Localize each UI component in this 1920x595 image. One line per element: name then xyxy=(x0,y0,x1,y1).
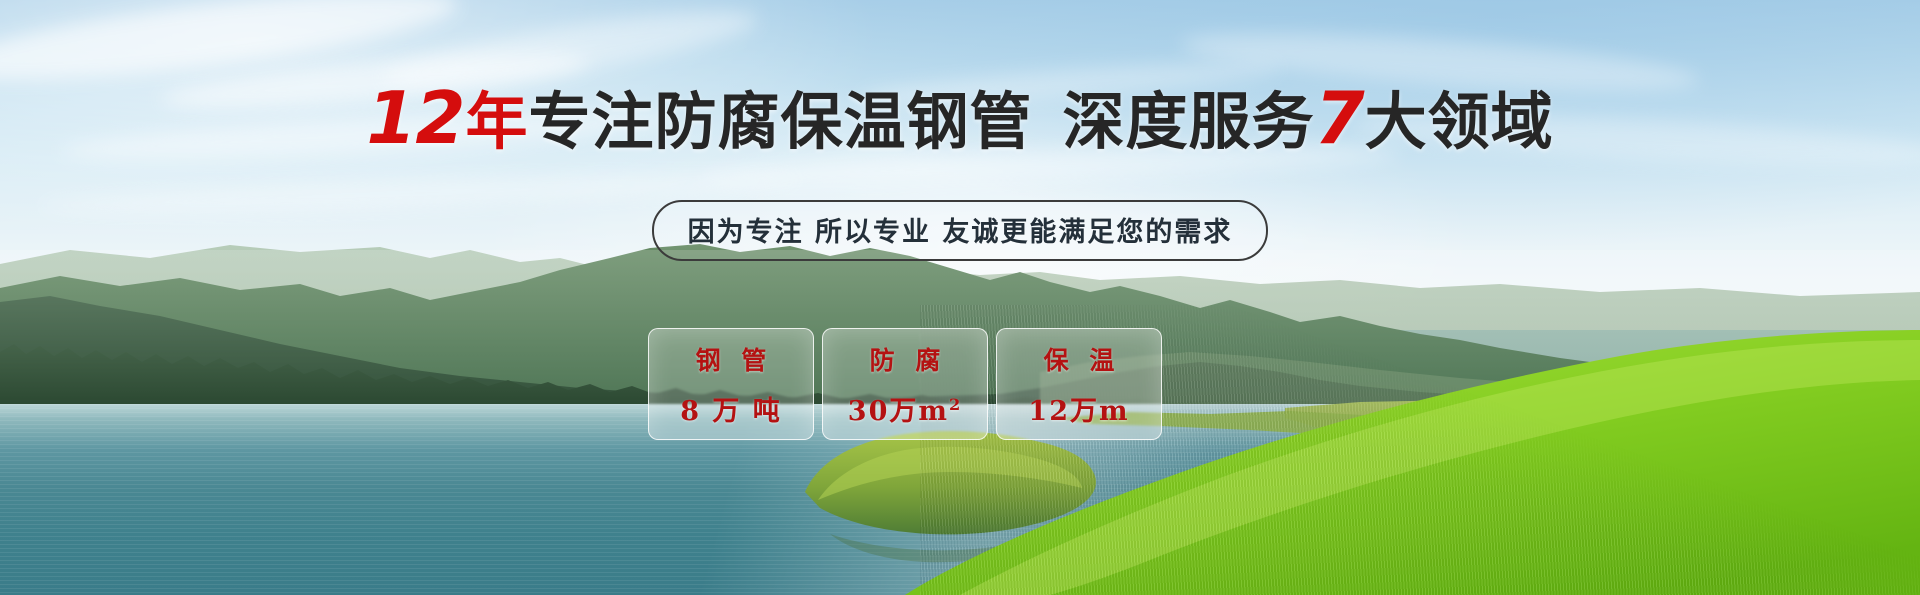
stat-card-anticorrosion[interactable]: 防 腐 30万m2 xyxy=(822,328,988,440)
headline-main-text: 专注防腐保温钢管 xyxy=(529,85,1033,158)
stat-value: 8 万 吨 xyxy=(680,389,782,428)
stat-card-insulation[interactable]: 保 温 12万m xyxy=(996,328,1162,440)
headline-years-number: 12 xyxy=(366,76,465,160)
stat-label: 防 腐 xyxy=(864,341,947,377)
headline: 12年专注防腐保温钢管深度服务7大领域 xyxy=(0,82,1920,154)
stat-label: 保 温 xyxy=(1038,341,1121,377)
stat-label: 钢 管 xyxy=(690,341,773,377)
hero-banner: 12年专注防腐保温钢管深度服务7大领域 因为专注 所以专业 友诚更能满足您的需求… xyxy=(0,0,1920,595)
subtitle-pill: 因为专注 所以专业 友诚更能满足您的需求 xyxy=(652,200,1269,261)
headline-years-unit: 年 xyxy=(466,85,529,158)
headline-second-text: 深度服务 xyxy=(1063,85,1315,158)
headline-fields-number: 7 xyxy=(1315,76,1365,160)
stat-card-group: 钢 管 8 万 吨 防 腐 30万m2 保 温 12万m xyxy=(648,328,1162,440)
stat-value: 30万m2 xyxy=(848,389,962,428)
stat-value-superscript: 2 xyxy=(949,395,962,414)
stat-value: 12万m xyxy=(1028,389,1129,428)
subtitle-wrapper: 因为专注 所以专业 友诚更能满足您的需求 xyxy=(0,200,1920,261)
stat-card-steel-pipe[interactable]: 钢 管 8 万 吨 xyxy=(648,328,814,440)
headline-tail-text: 大领域 xyxy=(1365,85,1554,158)
